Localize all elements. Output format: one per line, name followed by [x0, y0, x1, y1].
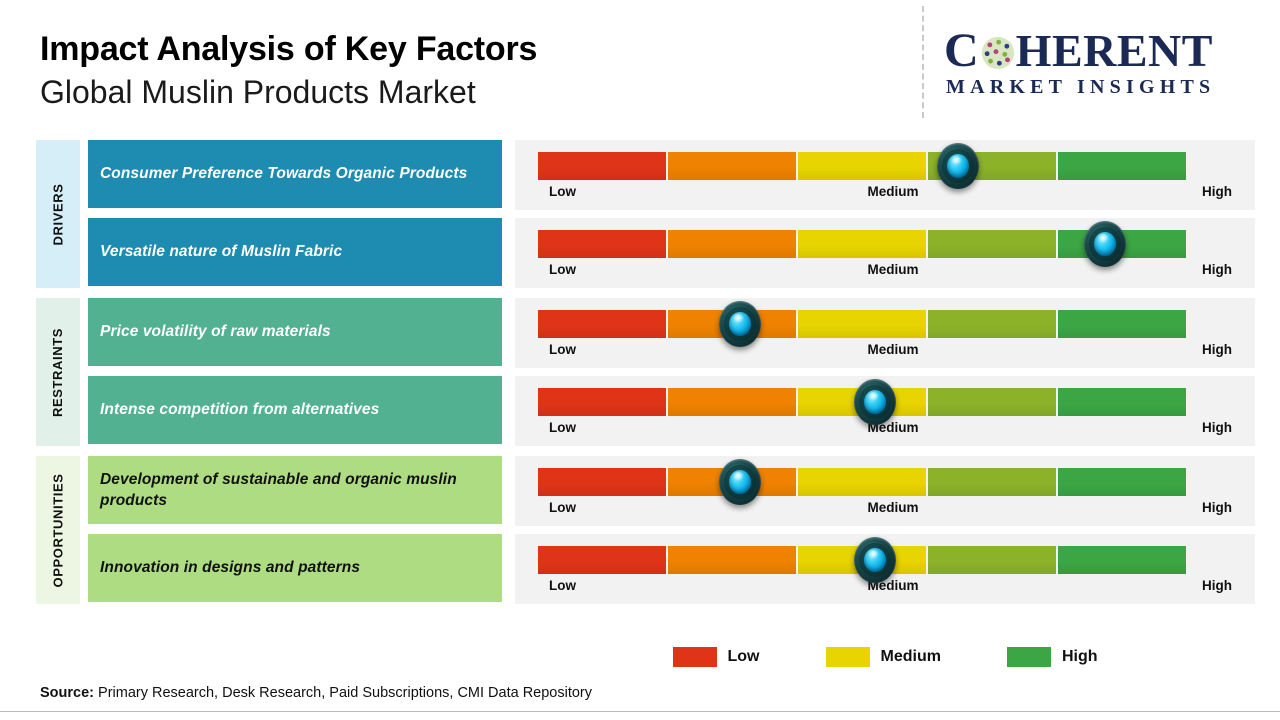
impact-matrix: DRIVERSConsumer Preference Towards Organ… [0, 140, 1280, 610]
gauge-segment-2 [668, 230, 796, 258]
factor-box[interactable]: Price volatility of raw materials [88, 298, 502, 366]
gauge-segment-4 [928, 468, 1056, 496]
gauge-segment-5 [1058, 388, 1186, 416]
impact-legend: LowMediumHigh [515, 638, 1255, 676]
gauge-marker-icon[interactable] [1084, 221, 1126, 267]
gauge-marker-icon[interactable] [854, 379, 896, 425]
legend-swatch-low [673, 647, 717, 667]
gauge-label-high: High [1202, 420, 1232, 435]
gauge-segment-1 [538, 230, 666, 258]
gauge-segment-4 [928, 230, 1056, 258]
gauge-label-high: High [1202, 262, 1232, 277]
factor-box[interactable]: Versatile nature of Muslin Fabric [88, 218, 502, 286]
source-text: Primary Research, Desk Research, Paid Su… [94, 685, 592, 701]
category-strip-label: OPPORTUNITIES [51, 473, 66, 587]
gauge-segment-5 [1058, 546, 1186, 574]
factor-box[interactable]: Development of sustainable and organic m… [88, 456, 502, 524]
legend-swatch-medium [826, 647, 870, 667]
gauge-label-high: High [1202, 500, 1232, 515]
factor-box[interactable]: Consumer Preference Towards Organic Prod… [88, 140, 502, 208]
gauge-segment-3 [798, 468, 926, 496]
gauge-segment-1 [538, 310, 666, 338]
legend-label: Medium [881, 648, 941, 666]
page-header: Impact Analysis of Key Factors Global Mu… [0, 0, 1280, 128]
gauge-segment-3 [798, 310, 926, 338]
gauge-segment-2 [668, 388, 796, 416]
gauge-panel: LowMediumHigh [515, 534, 1255, 604]
gauge-segment-1 [538, 468, 666, 496]
marker-gloss [951, 156, 962, 165]
gauge-segment-5 [1058, 310, 1186, 338]
source-line: Source: Primary Research, Desk Research,… [40, 685, 1240, 701]
gauge-bar [538, 468, 1186, 496]
gauge-marker-icon[interactable] [854, 537, 896, 583]
marker-gloss [1098, 234, 1109, 243]
gauge-segment-4 [928, 310, 1056, 338]
category-strip-label: RESTRAINTS [51, 327, 66, 416]
gauge-label-low: Low [549, 420, 576, 435]
marker-gloss [868, 392, 879, 401]
gauge-panel: LowMediumHigh [515, 298, 1255, 368]
gauge-segment-5 [1058, 468, 1186, 496]
gauge-label-low: Low [549, 578, 576, 593]
gauge-label-med: Medium [867, 500, 918, 515]
gauge-segment-4 [928, 546, 1056, 574]
category-strip-opportunities: OPPORTUNITIES [36, 456, 80, 604]
gauge-panel: LowMediumHigh [515, 218, 1255, 288]
legend-item: Low [673, 647, 760, 667]
gauge-panel: LowMediumHigh [515, 456, 1255, 526]
legend-label: Low [728, 648, 760, 666]
gauge-segment-1 [538, 546, 666, 574]
gauge-scale-labels: LowMediumHigh [538, 342, 1248, 364]
category-strip-restraints: RESTRAINTS [36, 298, 80, 446]
logo-wordmark-rest: HERENT [1016, 28, 1213, 74]
legend-label: High [1062, 648, 1098, 666]
logo-wordmark: C HERENT [944, 28, 1264, 74]
gauge-panel: LowMediumHigh [515, 376, 1255, 446]
gauge-segment-2 [668, 152, 796, 180]
gauge-label-high: High [1202, 184, 1232, 199]
gauge-label-med: Medium [867, 342, 918, 357]
page-subtitle: Global Muslin Products Market [40, 74, 537, 111]
footer-divider [0, 711, 1280, 712]
gauge-segment-3 [798, 152, 926, 180]
marker-gloss [733, 314, 744, 323]
gauge-label-med: Medium [867, 184, 918, 199]
gauge-label-high: High [1202, 342, 1232, 357]
factor-box[interactable]: Innovation in designs and patterns [88, 534, 502, 602]
gauge-segment-2 [668, 546, 796, 574]
factor-label: Versatile nature of Muslin Fabric [100, 241, 342, 262]
factor-label: Price volatility of raw materials [100, 321, 331, 342]
factor-label: Development of sustainable and organic m… [100, 469, 502, 512]
gauge-marker-icon[interactable] [719, 459, 761, 505]
marker-gloss [868, 550, 879, 559]
gauge-label-low: Low [549, 342, 576, 357]
category-strip-drivers: DRIVERS [36, 140, 80, 288]
gauge-label-low: Low [549, 184, 576, 199]
gauge-segment-1 [538, 152, 666, 180]
logo-letter-c: C [944, 27, 980, 75]
gauge-label-high: High [1202, 578, 1232, 593]
page-title: Impact Analysis of Key Factors [40, 30, 537, 68]
logo-divider [922, 6, 924, 118]
gauge-scale-labels: LowMediumHigh [538, 262, 1248, 284]
legend-swatch-high [1007, 647, 1051, 667]
legend-item: Medium [826, 647, 941, 667]
gauge-label-low: Low [549, 500, 576, 515]
gauge-segment-4 [928, 388, 1056, 416]
factor-label: Innovation in designs and patterns [100, 557, 360, 578]
marker-gloss [733, 472, 744, 481]
source-prefix: Source: [40, 685, 94, 701]
gauge-segment-3 [798, 230, 926, 258]
gauge-label-low: Low [549, 262, 576, 277]
gauge-bar [538, 310, 1186, 338]
factor-label: Intense competition from alternatives [100, 399, 379, 420]
gauge-panel: LowMediumHigh [515, 140, 1255, 210]
globe-dots-icon [981, 36, 1015, 70]
gauge-label-med: Medium [867, 262, 918, 277]
gauge-scale-labels: LowMediumHigh [538, 184, 1248, 206]
gauge-segment-5 [1058, 152, 1186, 180]
legend-item: High [1007, 647, 1098, 667]
logo-tagline: MARKET INSIGHTS [946, 76, 1264, 99]
gauge-marker-icon[interactable] [937, 143, 979, 189]
company-logo: C HERENT MARKET INSIGHTS [944, 16, 1264, 108]
gauge-bar [538, 152, 1186, 180]
gauge-marker-icon[interactable] [719, 301, 761, 347]
factor-label: Consumer Preference Towards Organic Prod… [100, 163, 467, 184]
gauge-scale-labels: LowMediumHigh [538, 500, 1248, 522]
factor-box[interactable]: Intense competition from alternatives [88, 376, 502, 444]
gauge-segment-1 [538, 388, 666, 416]
title-block: Impact Analysis of Key Factors Global Mu… [40, 30, 537, 111]
category-strip-label: DRIVERS [51, 183, 66, 245]
